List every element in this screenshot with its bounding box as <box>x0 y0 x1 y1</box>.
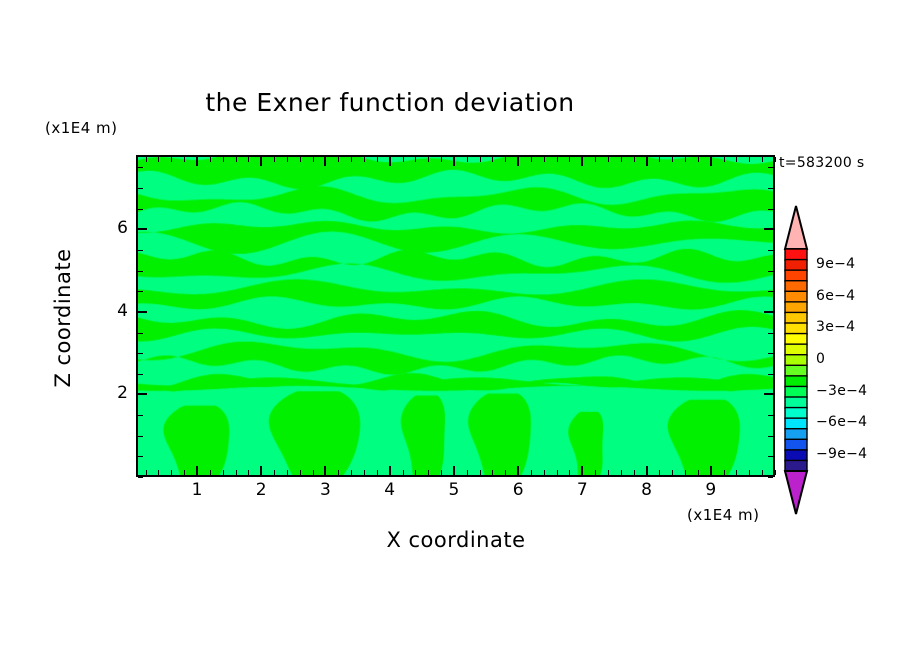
colorbar-band <box>785 408 807 419</box>
x-tick-minor <box>351 157 352 162</box>
x-tick-minor <box>621 470 622 475</box>
x-tick-minor <box>364 470 365 475</box>
x-tick-label: 1 <box>182 480 212 500</box>
colorbar-band <box>785 260 807 271</box>
x-tick-minor <box>210 157 211 162</box>
x-tick-minor <box>428 470 429 475</box>
y-tick-minor <box>768 456 773 457</box>
x-tick-minor <box>236 470 237 475</box>
x-tick-major <box>196 466 198 475</box>
y-tick-major <box>138 228 147 230</box>
x-tick-minor <box>184 470 185 475</box>
figure-canvas: the Exner function deviation (x1E4 m) (x… <box>0 0 904 654</box>
x-tick-minor <box>736 157 737 162</box>
x-tick-minor <box>505 157 506 162</box>
x-tick-minor <box>672 470 673 475</box>
x-tick-minor <box>184 157 185 162</box>
x-tick-minor <box>223 157 224 162</box>
x-axis-title: X coordinate <box>236 528 676 552</box>
x-tick-major <box>517 466 519 475</box>
y-tick-major <box>138 311 147 313</box>
y-axis-title: Z coordinate <box>51 228 75 408</box>
x-tick-minor <box>724 470 725 475</box>
time-annotation: t=583200 s <box>779 155 864 171</box>
x-tick-minor <box>428 157 429 162</box>
x-tick-minor <box>749 470 750 475</box>
colorbar <box>780 205 812 515</box>
x-tick-label: 7 <box>567 480 597 500</box>
colorbar-under-arrow <box>785 471 807 514</box>
x-tick-minor <box>659 157 660 162</box>
colorbar-band <box>785 450 807 461</box>
x-tick-minor <box>364 157 365 162</box>
x-tick-minor <box>171 470 172 475</box>
x-tick-minor <box>467 470 468 475</box>
x-tick-minor <box>672 157 673 162</box>
colorbar-band <box>785 418 807 429</box>
x-tick-minor <box>313 470 314 475</box>
x-tick-minor <box>300 157 301 162</box>
y-tick-minor <box>138 477 143 478</box>
colorbar-band <box>785 460 807 471</box>
x-tick-major <box>196 157 198 166</box>
x-tick-major <box>260 157 262 166</box>
y-tick-minor <box>138 250 143 251</box>
x-tick-minor <box>736 470 737 475</box>
x-tick-minor <box>274 470 275 475</box>
y-axis-unit-label: (x1E4 m) <box>45 119 118 137</box>
x-tick-minor <box>480 157 481 162</box>
x-tick-minor <box>403 157 404 162</box>
x-tick-minor <box>492 157 493 162</box>
x-tick-minor <box>467 157 468 162</box>
x-tick-minor <box>210 470 211 475</box>
colorbar-band <box>785 386 807 397</box>
y-tick-minor <box>768 436 773 437</box>
colorbar-band <box>785 365 807 376</box>
x-tick-minor <box>248 470 249 475</box>
x-tick-label: 3 <box>310 480 340 500</box>
y-tick-minor <box>138 291 143 292</box>
colorbar-tick-label: −9e−4 <box>816 446 867 462</box>
x-tick-minor <box>377 157 378 162</box>
colorbar-band <box>785 439 807 450</box>
y-tick-minor <box>138 271 143 272</box>
y-tick-major <box>764 393 773 395</box>
x-tick-major <box>646 466 648 475</box>
x-tick-minor <box>146 157 147 162</box>
x-tick-minor <box>223 470 224 475</box>
x-tick-minor <box>762 157 763 162</box>
x-tick-minor <box>557 470 558 475</box>
x-tick-label: 4 <box>375 480 405 500</box>
colorbar-tick-label: −6e−4 <box>816 414 867 430</box>
x-tick-major <box>581 157 583 166</box>
colorbar-tick-label: 6e−4 <box>816 288 855 304</box>
x-tick-minor <box>531 470 532 475</box>
x-tick-minor <box>595 157 596 162</box>
x-tick-minor <box>415 157 416 162</box>
y-tick-minor <box>768 188 773 189</box>
x-tick-major <box>389 466 391 475</box>
colorbar-band <box>785 270 807 281</box>
y-tick-minor <box>768 415 773 416</box>
contour-field <box>138 157 773 475</box>
x-tick-major <box>260 466 262 475</box>
x-tick-minor <box>685 470 686 475</box>
colorbar-tick-label: −3e−4 <box>816 383 867 399</box>
y-tick-minor <box>768 167 773 168</box>
y-tick-minor <box>138 415 143 416</box>
y-tick-minor <box>138 436 143 437</box>
x-tick-major <box>453 466 455 475</box>
x-tick-minor <box>441 470 442 475</box>
colorbar-band <box>785 291 807 302</box>
x-tick-major <box>581 466 583 475</box>
plot-area <box>136 155 775 477</box>
x-tick-minor <box>338 157 339 162</box>
colorbar-band <box>785 312 807 323</box>
x-tick-minor <box>338 470 339 475</box>
x-tick-major <box>324 157 326 166</box>
colorbar-band <box>785 376 807 387</box>
x-tick-minor <box>775 470 776 475</box>
x-tick-minor <box>749 157 750 162</box>
x-tick-minor <box>146 470 147 475</box>
x-tick-minor <box>569 470 570 475</box>
colorbar-tick-label: 9e−4 <box>816 256 855 272</box>
x-tick-minor <box>313 157 314 162</box>
x-tick-label: 6 <box>503 480 533 500</box>
x-tick-minor <box>608 157 609 162</box>
x-tick-minor <box>531 157 532 162</box>
x-tick-minor <box>608 470 609 475</box>
y-tick-major <box>764 228 773 230</box>
y-tick-label: 2 <box>98 383 128 403</box>
colorbar-over-arrow <box>785 206 807 249</box>
colorbar-band <box>785 334 807 345</box>
colorbar-band <box>785 397 807 408</box>
x-tick-minor <box>236 157 237 162</box>
x-tick-minor <box>158 470 159 475</box>
y-tick-minor <box>768 271 773 272</box>
y-tick-minor <box>138 374 143 375</box>
y-tick-label: 4 <box>98 301 128 321</box>
y-tick-minor <box>768 291 773 292</box>
x-tick-major <box>324 466 326 475</box>
x-tick-minor <box>287 470 288 475</box>
colorbar-band <box>785 355 807 366</box>
y-tick-major <box>764 311 773 313</box>
colorbar-band <box>785 429 807 440</box>
x-tick-minor <box>698 157 699 162</box>
x-tick-minor <box>762 470 763 475</box>
y-tick-major <box>138 393 147 395</box>
x-tick-minor <box>775 157 776 162</box>
colorbar-band <box>785 249 807 260</box>
y-tick-minor <box>768 250 773 251</box>
x-tick-minor <box>659 470 660 475</box>
y-tick-minor <box>138 353 143 354</box>
x-tick-minor <box>724 157 725 162</box>
x-tick-minor <box>377 470 378 475</box>
x-tick-minor <box>492 470 493 475</box>
x-tick-label: 5 <box>439 480 469 500</box>
x-tick-label: 2 <box>246 480 276 500</box>
y-tick-minor <box>768 333 773 334</box>
y-tick-minor <box>138 456 143 457</box>
x-tick-label: 8 <box>632 480 662 500</box>
x-tick-minor <box>595 470 596 475</box>
page-title: the Exner function deviation <box>0 88 780 117</box>
x-tick-minor <box>403 470 404 475</box>
x-tick-minor <box>634 157 635 162</box>
x-tick-minor <box>300 470 301 475</box>
x-tick-major <box>453 157 455 166</box>
x-tick-minor <box>171 157 172 162</box>
y-tick-minor <box>138 209 143 210</box>
colorbar-band <box>785 302 807 313</box>
colorbar-tick-label: 0 <box>816 351 825 367</box>
x-tick-minor <box>544 157 545 162</box>
x-tick-minor <box>621 157 622 162</box>
x-tick-minor <box>287 157 288 162</box>
y-tick-minor <box>768 209 773 210</box>
x-tick-major <box>646 157 648 166</box>
x-tick-minor <box>480 470 481 475</box>
x-tick-minor <box>634 470 635 475</box>
colorbar-tick-label: 3e−4 <box>816 319 855 335</box>
x-tick-minor <box>441 157 442 162</box>
x-tick-minor <box>698 470 699 475</box>
y-tick-minor <box>768 477 773 478</box>
x-tick-minor <box>569 157 570 162</box>
y-tick-minor <box>768 353 773 354</box>
y-tick-minor <box>768 374 773 375</box>
x-tick-label: 9 <box>696 480 726 500</box>
y-tick-minor <box>138 333 143 334</box>
x-tick-minor <box>685 157 686 162</box>
colorbar-band <box>785 323 807 334</box>
y-tick-label: 6 <box>98 218 128 238</box>
x-tick-minor <box>544 470 545 475</box>
y-tick-minor <box>138 167 143 168</box>
colorbar-band <box>785 281 807 292</box>
y-tick-minor <box>138 188 143 189</box>
colorbar-svg <box>780 205 812 515</box>
x-tick-minor <box>505 470 506 475</box>
x-tick-major <box>389 157 391 166</box>
x-tick-major <box>710 466 712 475</box>
x-tick-minor <box>248 157 249 162</box>
x-tick-minor <box>274 157 275 162</box>
colorbar-band <box>785 344 807 355</box>
x-tick-minor <box>415 470 416 475</box>
x-axis-unit-label: (x1E4 m) <box>687 506 760 524</box>
x-tick-minor <box>158 157 159 162</box>
x-tick-major <box>710 157 712 166</box>
x-tick-minor <box>351 470 352 475</box>
x-tick-major <box>517 157 519 166</box>
x-tick-minor <box>557 157 558 162</box>
